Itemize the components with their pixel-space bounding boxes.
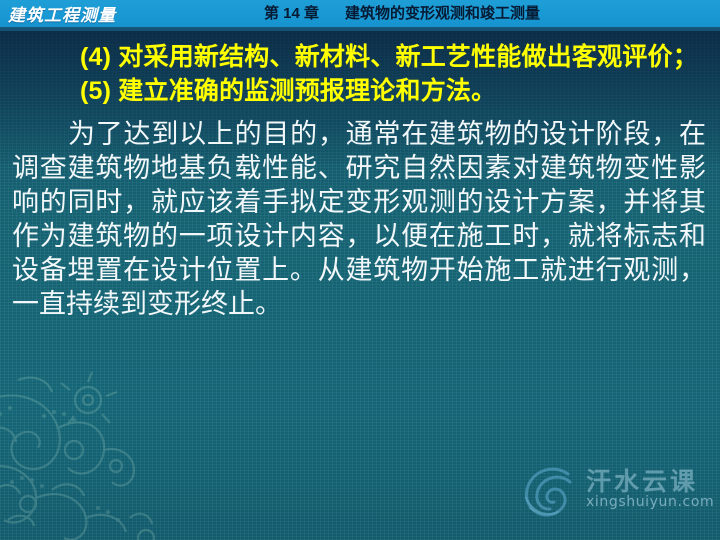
wave-spiral-logo (520, 460, 582, 522)
watermark: 汗水云课 xingshuiyun.com (520, 456, 704, 528)
paisley-floral-ornament (0, 370, 218, 540)
bullet-marker-5: (5) (80, 77, 111, 105)
body-paragraph: 为了达到以上的目的，通常在建筑物的设计阶段，在调查建筑物地基负载性能、研究自然因… (0, 117, 720, 321)
bullet-text-4: 对采用新结构、新材料、新工艺性能做出客观评价； (111, 43, 698, 71)
bullet-marker-4: (4) (80, 43, 111, 71)
slide-canvas: 建筑工程测量 第 14 章建筑物的变形观测和竣工测量 (4) 对采用新结构、新材… (0, 0, 720, 540)
course-title: 建筑工程测量 (8, 1, 116, 26)
slide-content: (4) 对采用新结构、新材料、新工艺性能做出客观评价； (5) 建立准确的监测预… (0, 40, 720, 321)
watermark-brand-cn: 汗水云课 (586, 462, 698, 498)
watermark-brand-url: xingshuiyun.com (586, 494, 714, 510)
bullet-text-5: 建立准确的监测预报理论和方法。 (111, 77, 496, 105)
chapter-heading: 第 14 章建筑物的变形观测和竣工测量 (264, 2, 540, 23)
header-underline (0, 27, 720, 31)
chapter-number: 第 14 章 (264, 5, 319, 22)
chapter-title: 建筑物的变形观测和竣工测量 (345, 5, 540, 22)
bullet-item-5: (5) 建立准确的监测预报理论和方法。 (0, 74, 720, 108)
bullet-item-4: (4) 对采用新结构、新材料、新工艺性能做出客观评价； (0, 40, 720, 74)
